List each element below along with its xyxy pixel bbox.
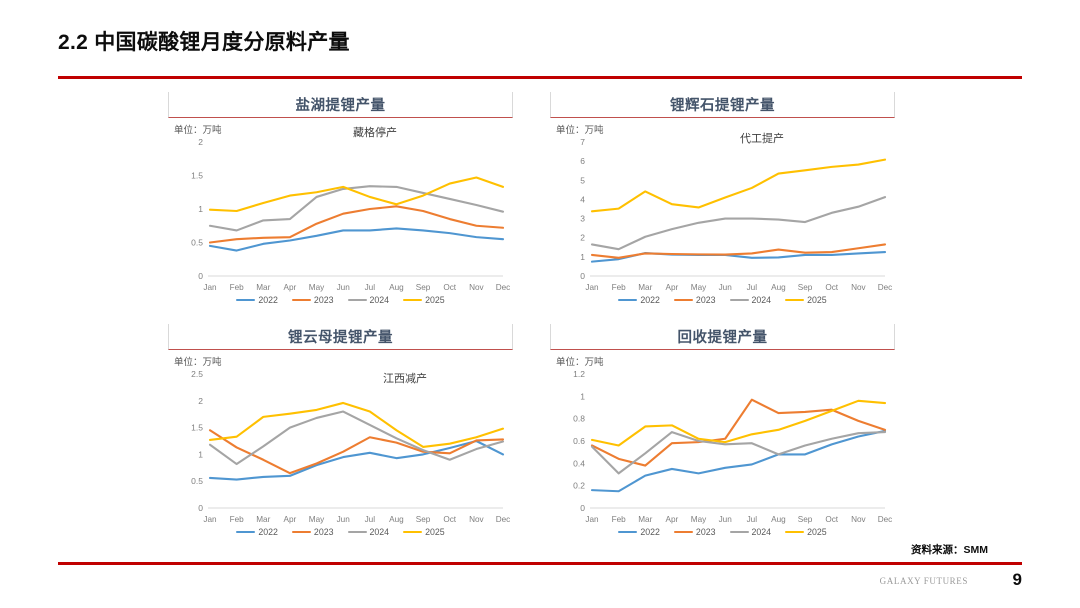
svg-text:Feb: Feb: [612, 283, 627, 292]
legend-label-2025: 2025: [425, 295, 445, 305]
legend-item-2022: 2022: [618, 295, 660, 305]
svg-text:0.8: 0.8: [573, 414, 585, 424]
legend-swatch-2025: [403, 299, 422, 302]
legend-swatch-2024: [730, 299, 749, 302]
legend-item-2023: 2023: [292, 527, 334, 537]
svg-text:Dec: Dec: [496, 283, 511, 292]
chart-title: 回收提锂产量: [678, 326, 768, 347]
svg-text:2: 2: [198, 137, 203, 147]
legend-item-2024: 2024: [730, 527, 772, 537]
legend-label-2025: 2025: [807, 295, 827, 305]
svg-text:Nov: Nov: [469, 515, 484, 524]
svg-text:0.5: 0.5: [191, 238, 203, 248]
chart-header: 锂辉石提锂产量: [550, 92, 895, 118]
svg-text:5: 5: [580, 175, 585, 185]
legend-item-2024: 2024: [348, 527, 390, 537]
legend-swatch-2023: [674, 299, 693, 302]
svg-text:3: 3: [580, 214, 585, 224]
legend-swatch-2025: [785, 531, 804, 534]
svg-text:Jan: Jan: [585, 283, 599, 292]
svg-text:Feb: Feb: [230, 515, 245, 524]
svg-text:7: 7: [580, 137, 585, 147]
legend-swatch-2023: [674, 531, 693, 534]
legend-item-2025: 2025: [403, 295, 445, 305]
svg-text:0: 0: [198, 503, 203, 513]
svg-text:Apr: Apr: [666, 283, 679, 292]
legend-swatch-2022: [236, 531, 255, 534]
legend-swatch-2025: [785, 299, 804, 302]
legend-item-2024: 2024: [348, 295, 390, 305]
svg-text:Sep: Sep: [798, 515, 813, 524]
svg-text:Apr: Apr: [284, 283, 297, 292]
svg-text:1: 1: [580, 252, 585, 262]
legend-label-2025: 2025: [425, 527, 445, 537]
svg-text:0.4: 0.4: [573, 458, 585, 468]
chart-title: 盐湖提锂产量: [296, 94, 386, 115]
svg-text:2: 2: [580, 233, 585, 243]
svg-text:Aug: Aug: [771, 283, 786, 292]
svg-text:1: 1: [198, 204, 203, 214]
legend-swatch-2023: [292, 299, 311, 302]
plot-area: 00.20.40.60.811.2JanFebMarAprMayJunJulAu…: [550, 352, 895, 536]
svg-text:Oct: Oct: [443, 283, 456, 292]
svg-text:May: May: [309, 515, 325, 524]
svg-text:Dec: Dec: [496, 515, 511, 524]
svg-text:Nov: Nov: [469, 283, 484, 292]
chart-legend: 2022 2023 2024 2025: [168, 527, 513, 537]
legend-item-2023: 2023: [292, 295, 334, 305]
chart-annotation: 江西减产: [383, 370, 427, 386]
svg-text:May: May: [691, 283, 707, 292]
legend-item-2024: 2024: [730, 295, 772, 305]
svg-text:Jun: Jun: [337, 515, 351, 524]
svg-text:0: 0: [580, 271, 585, 281]
svg-text:Nov: Nov: [851, 283, 866, 292]
svg-text:1.5: 1.5: [191, 423, 203, 433]
legend-item-2023: 2023: [674, 295, 716, 305]
legend-label-2022: 2022: [258, 527, 278, 537]
legend-label-2022: 2022: [258, 295, 278, 305]
svg-text:1.2: 1.2: [573, 369, 585, 379]
legend-label-2023: 2023: [696, 295, 716, 305]
svg-text:Sep: Sep: [416, 515, 431, 524]
legend-item-2025: 2025: [785, 527, 827, 537]
legend-swatch-2022: [618, 299, 637, 302]
line-chart-svg: 01234567JanFebMarAprMayJunJulAugSepOctNo…: [550, 120, 895, 304]
svg-text:Jan: Jan: [585, 515, 599, 524]
page-number: 9: [1013, 570, 1022, 590]
svg-text:2: 2: [198, 396, 203, 406]
svg-text:Jun: Jun: [719, 515, 733, 524]
svg-text:0: 0: [580, 503, 585, 513]
svg-text:Dec: Dec: [878, 515, 893, 524]
legend-item-2025: 2025: [403, 527, 445, 537]
chart-legend: 2022 2023 2024 2025: [550, 295, 895, 305]
svg-text:Nov: Nov: [851, 515, 866, 524]
footer-divider: [58, 562, 1022, 565]
svg-text:4: 4: [580, 194, 585, 204]
svg-text:Apr: Apr: [666, 515, 679, 524]
legend-swatch-2022: [618, 531, 637, 534]
legend-item-2023: 2023: [674, 527, 716, 537]
svg-text:Aug: Aug: [389, 515, 404, 524]
svg-text:Sep: Sep: [416, 283, 431, 292]
chart-header: 锂云母提锂产量: [168, 324, 513, 350]
legend-label-2024: 2024: [752, 295, 772, 305]
svg-text:Oct: Oct: [825, 283, 838, 292]
line-chart-svg: 00.20.40.60.811.2JanFebMarAprMayJunJulAu…: [550, 352, 895, 536]
svg-text:Mar: Mar: [256, 283, 270, 292]
svg-text:1: 1: [580, 391, 585, 401]
svg-text:Oct: Oct: [443, 515, 456, 524]
legend-swatch-2024: [348, 299, 367, 302]
chart-panel-lepidolite: 锂云母提锂产量 单位：万吨 00.511.522.5JanFebMarAprMa…: [168, 324, 513, 536]
svg-text:6: 6: [580, 156, 585, 166]
line-chart-svg: 00.511.52JanFebMarAprMayJunJulAugSepOctN…: [168, 120, 513, 304]
chart-panel-recycling: 回收提锂产量 单位：万吨 00.20.40.60.811.2JanFebMarA…: [550, 324, 895, 536]
svg-text:Jul: Jul: [747, 283, 758, 292]
legend-label-2022: 2022: [640, 527, 660, 537]
legend-swatch-2023: [292, 531, 311, 534]
line-chart-svg: 00.511.522.5JanFebMarAprMayJunJulAugSepO…: [168, 352, 513, 536]
svg-text:0: 0: [198, 271, 203, 281]
legend-label-2025: 2025: [807, 527, 827, 537]
chart-title: 锂辉石提锂产量: [670, 94, 775, 115]
svg-text:Feb: Feb: [612, 515, 627, 524]
svg-text:Dec: Dec: [878, 283, 893, 292]
svg-text:Jul: Jul: [365, 283, 376, 292]
svg-text:0.2: 0.2: [573, 481, 585, 491]
chart-panel-spodumene: 锂辉石提锂产量 单位：万吨 01234567JanFebMarAprMayJun…: [550, 92, 895, 304]
svg-text:Jul: Jul: [747, 515, 758, 524]
chart-title: 锂云母提锂产量: [288, 326, 393, 347]
svg-text:Jul: Jul: [365, 515, 376, 524]
svg-text:Apr: Apr: [284, 515, 297, 524]
svg-text:1: 1: [198, 449, 203, 459]
chart-legend: 2022 2023 2024 2025: [168, 295, 513, 305]
legend-swatch-2022: [236, 299, 255, 302]
legend-item-2025: 2025: [785, 295, 827, 305]
svg-text:May: May: [309, 283, 325, 292]
plot-area: 00.511.522.5JanFebMarAprMayJunJulAugSepO…: [168, 352, 513, 536]
svg-text:Mar: Mar: [638, 283, 652, 292]
svg-text:0.6: 0.6: [573, 436, 585, 446]
plot-area: 01234567JanFebMarAprMayJunJulAugSepOctNo…: [550, 120, 895, 304]
svg-text:Jan: Jan: [203, 515, 217, 524]
legend-label-2024: 2024: [370, 527, 390, 537]
svg-text:1.5: 1.5: [191, 171, 203, 181]
svg-text:Sep: Sep: [798, 283, 813, 292]
svg-text:Feb: Feb: [230, 283, 245, 292]
legend-swatch-2025: [403, 531, 422, 534]
page-title: 2.2 中国碳酸锂月度分原料产量: [58, 26, 350, 56]
svg-text:2.5: 2.5: [191, 369, 203, 379]
legend-label-2023: 2023: [314, 527, 334, 537]
legend-label-2023: 2023: [696, 527, 716, 537]
svg-text:Mar: Mar: [638, 515, 652, 524]
chart-header: 回收提锂产量: [550, 324, 895, 350]
source-note: 资料来源：SMM: [911, 542, 988, 557]
svg-text:Jan: Jan: [203, 283, 217, 292]
legend-item-2022: 2022: [618, 527, 660, 537]
brand-mark: GALAXY FUTURES: [880, 576, 968, 586]
svg-text:Oct: Oct: [825, 515, 838, 524]
legend-label-2024: 2024: [752, 527, 772, 537]
legend-label-2022: 2022: [640, 295, 660, 305]
slide-root: 2.2 中国碳酸锂月度分原料产量 盐湖提锂产量 单位：万吨 00.511.52J…: [0, 0, 1080, 608]
title-divider: [58, 76, 1022, 79]
legend-swatch-2024: [730, 531, 749, 534]
chart-annotation: 藏格停产: [353, 124, 397, 140]
legend-label-2024: 2024: [370, 295, 390, 305]
chart-grid: 盐湖提锂产量 单位：万吨 00.511.52JanFebMarAprMayJun…: [160, 92, 905, 537]
svg-text:Aug: Aug: [389, 283, 404, 292]
svg-text:Mar: Mar: [256, 515, 270, 524]
legend-swatch-2024: [348, 531, 367, 534]
legend-label-2023: 2023: [314, 295, 334, 305]
legend-item-2022: 2022: [236, 295, 278, 305]
svg-text:Jun: Jun: [337, 283, 351, 292]
chart-legend: 2022 2023 2024 2025: [550, 527, 895, 537]
chart-panel-salt-lake: 盐湖提锂产量 单位：万吨 00.511.52JanFebMarAprMayJun…: [168, 92, 513, 304]
legend-item-2022: 2022: [236, 527, 278, 537]
svg-text:Jun: Jun: [719, 283, 733, 292]
plot-area: 00.511.52JanFebMarAprMayJunJulAugSepOctN…: [168, 120, 513, 304]
chart-header: 盐湖提锂产量: [168, 92, 513, 118]
svg-text:May: May: [691, 515, 707, 524]
svg-text:Aug: Aug: [771, 515, 786, 524]
svg-text:0.5: 0.5: [191, 476, 203, 486]
chart-annotation: 代工提产: [740, 130, 784, 146]
